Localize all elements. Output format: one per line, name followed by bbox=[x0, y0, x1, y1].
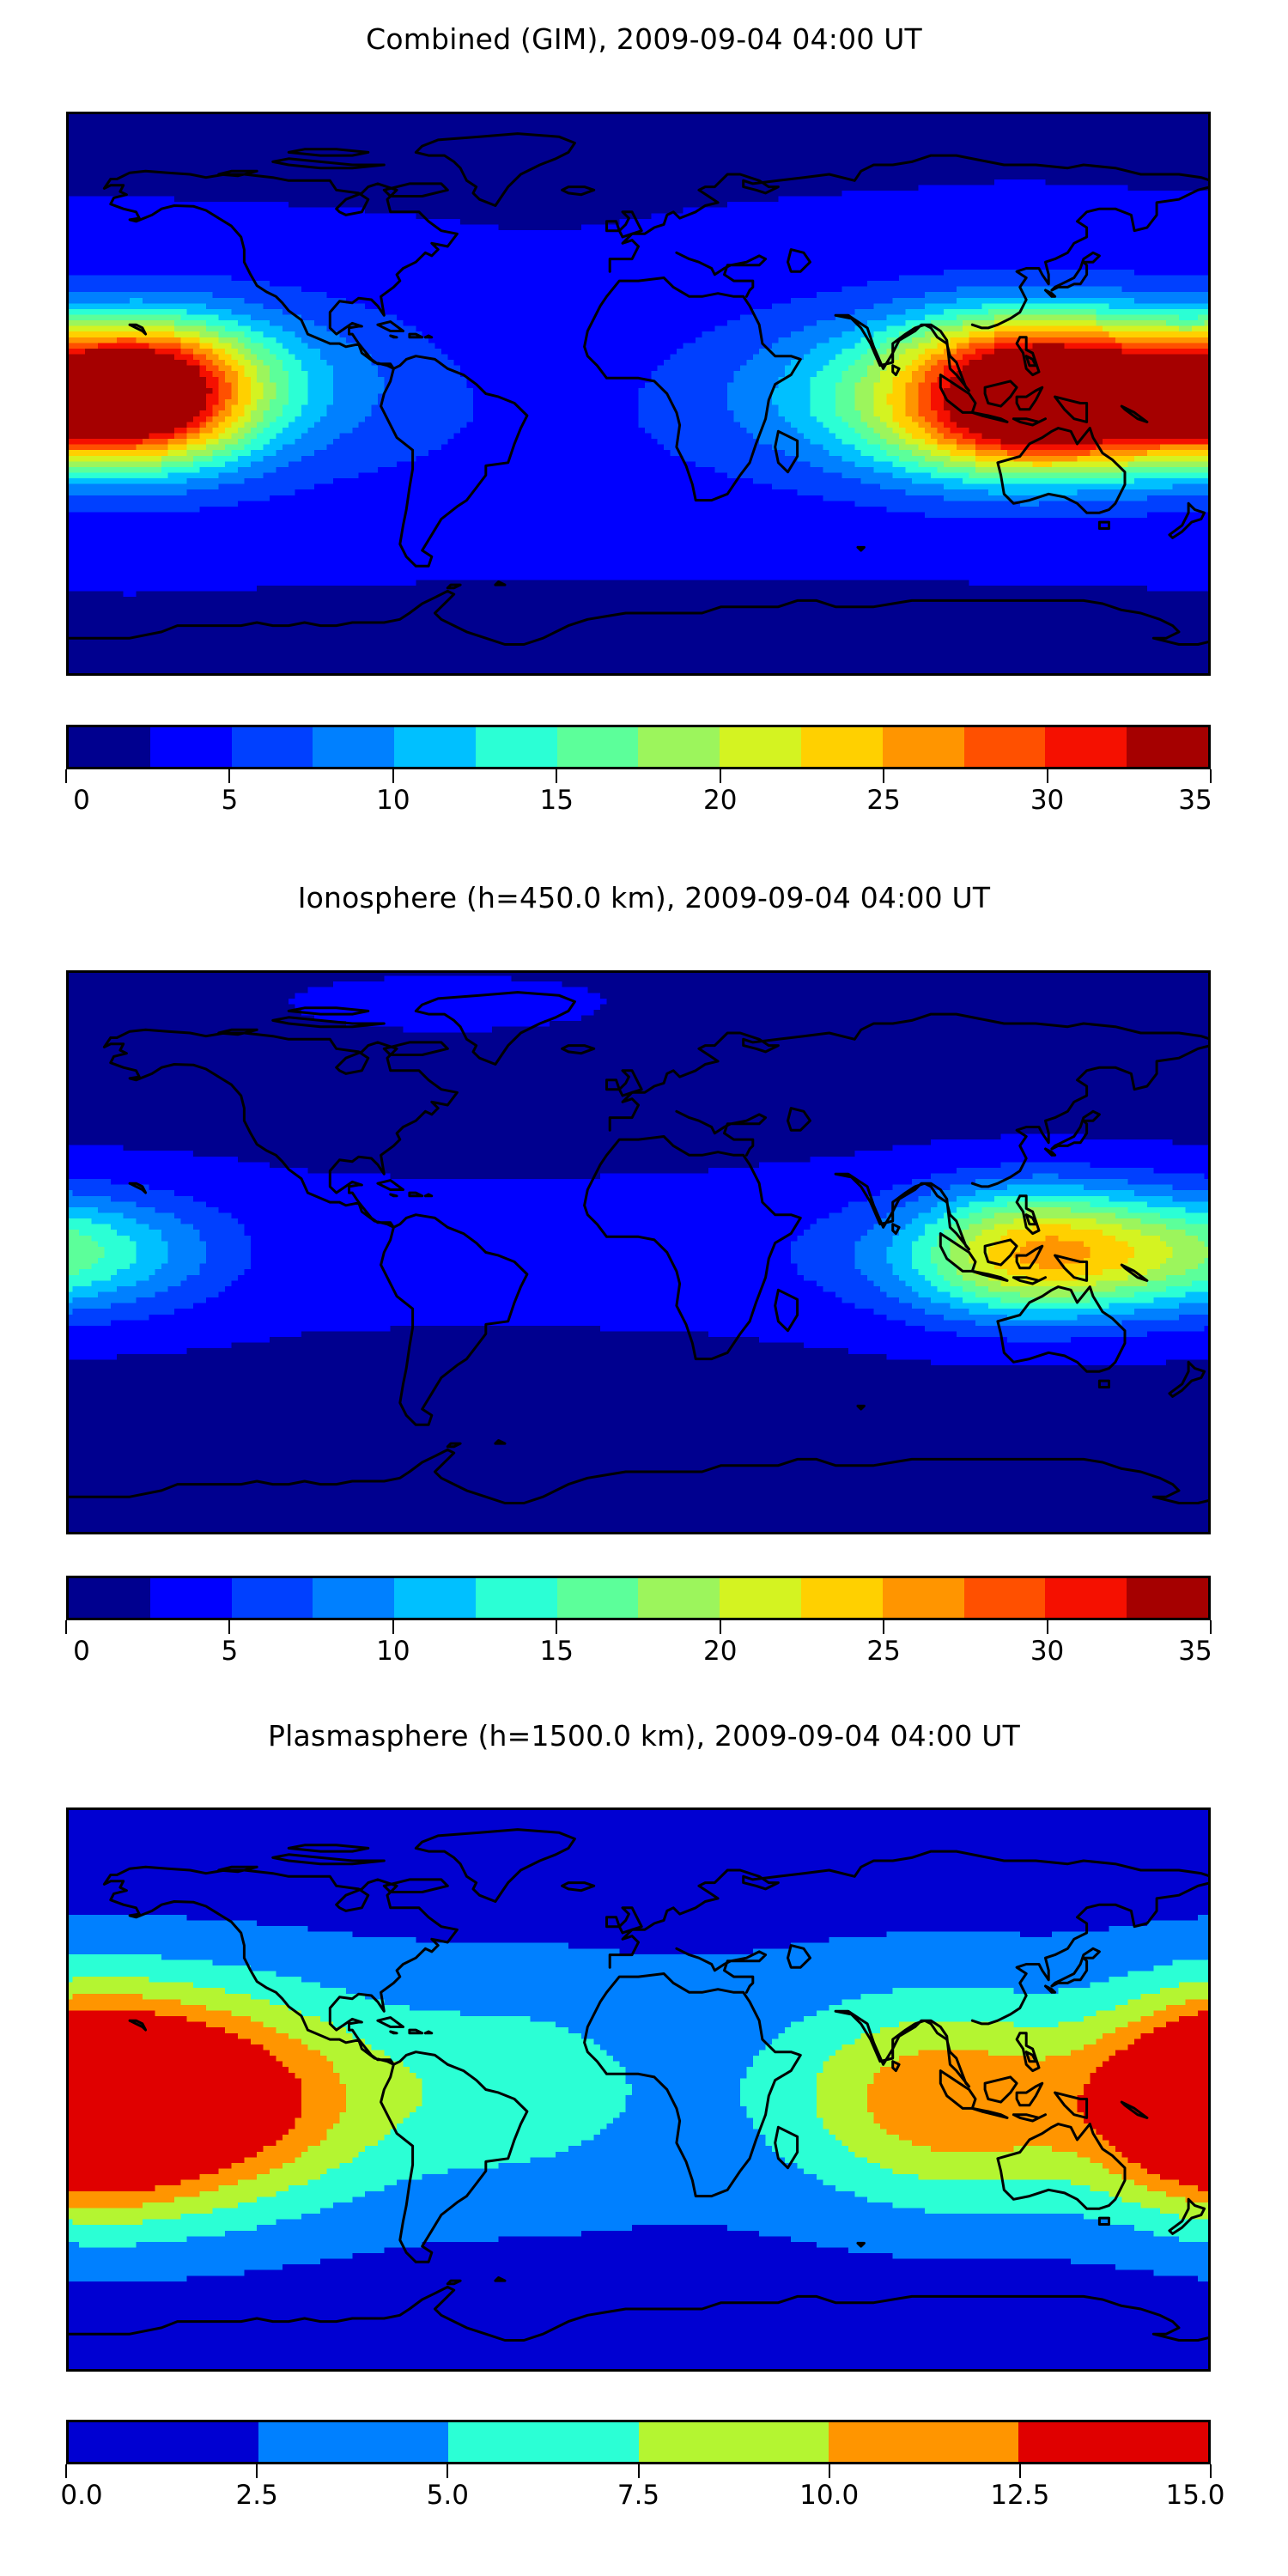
colorbar-band-5 bbox=[1018, 2422, 1208, 2462]
colorbar-band-6 bbox=[557, 1578, 639, 1618]
map-canvas-ionosphere bbox=[66, 970, 1211, 1534]
colorbar-band-3 bbox=[313, 727, 394, 767]
map-canvas-combined bbox=[66, 112, 1211, 676]
colorbar-band-0 bbox=[69, 1578, 150, 1618]
colorbar-band-7 bbox=[638, 1578, 720, 1618]
colorbar-band-2 bbox=[232, 727, 313, 767]
colorbar-swatches-ionosphere bbox=[66, 1576, 1211, 1620]
colorbar-tick bbox=[556, 1620, 557, 1634]
colorbar-tick bbox=[1047, 1620, 1048, 1634]
colorbar-tick bbox=[638, 2464, 640, 2478]
colorbar-band-0 bbox=[69, 727, 150, 767]
colorbar-tick-label: 30 bbox=[1030, 1636, 1064, 1667]
colorbar-tick-label: 15 bbox=[540, 1636, 574, 1667]
colorbar-tick-label: 35 bbox=[1178, 785, 1212, 816]
colorbar-tick bbox=[1210, 769, 1212, 783]
colorbar-tick-label: 20 bbox=[703, 785, 737, 816]
colorbar-band-9 bbox=[801, 727, 883, 767]
colorbar-tick bbox=[228, 769, 230, 783]
colorbar-tick bbox=[1210, 1620, 1212, 1634]
colorbar-tick-label: 20 bbox=[703, 1636, 737, 1667]
colorbar-tick-label: 0.0 bbox=[60, 2480, 102, 2511]
colorbar-band-1 bbox=[258, 2422, 448, 2462]
colorbar-tick bbox=[556, 769, 557, 783]
map-canvas-plasmasphere bbox=[66, 1807, 1211, 2372]
colorbar-band-8 bbox=[720, 1578, 801, 1618]
colorbar-tick-label: 12.5 bbox=[990, 2480, 1049, 2511]
colorbar-band-12 bbox=[1045, 727, 1127, 767]
colorbar-axis-plasmasphere: 0.02.55.07.510.012.515.0 bbox=[66, 2464, 1211, 2528]
colorbar-band-4 bbox=[394, 1578, 476, 1618]
panel-plasmasphere: Plasmasphere (h=1500.0 km), 2009-09-04 0… bbox=[0, 1719, 1288, 1753]
colorbar-combined[interactable]: 05101520253035 bbox=[66, 725, 1211, 833]
colorbar-tick bbox=[883, 1620, 884, 1634]
colorbar-band-13 bbox=[1127, 727, 1208, 767]
colorbar-tick bbox=[228, 1620, 230, 1634]
colorbar-tick bbox=[1019, 2464, 1021, 2478]
colorbar-tick bbox=[65, 2464, 67, 2478]
colorbar-tick-label: 30 bbox=[1030, 785, 1064, 816]
colorbar-axis-ionosphere: 05101520253035 bbox=[66, 1620, 1211, 1684]
colorbar-tick-label: 2.5 bbox=[236, 2480, 278, 2511]
tec-figure: Combined (GIM), 2009-09-04 04:00 UT 0510… bbox=[0, 0, 1288, 2576]
panel-title-ionosphere: Ionosphere (h=450.0 km), 2009-09-04 04:0… bbox=[0, 881, 1288, 915]
map-ionosphere[interactable] bbox=[66, 970, 1211, 1534]
colorbar-tick bbox=[65, 769, 67, 783]
colorbar-tick bbox=[65, 1620, 67, 1634]
colorbar-band-7 bbox=[638, 727, 720, 767]
map-combined[interactable] bbox=[66, 112, 1211, 676]
colorbar-band-13 bbox=[1127, 1578, 1208, 1618]
colorbar-band-5 bbox=[476, 727, 557, 767]
colorbar-band-1 bbox=[150, 1578, 232, 1618]
colorbar-band-9 bbox=[801, 1578, 883, 1618]
colorbar-swatches-combined bbox=[66, 725, 1211, 769]
panel-title-combined: Combined (GIM), 2009-09-04 04:00 UT bbox=[0, 22, 1288, 57]
colorbar-tick bbox=[392, 1620, 394, 1634]
colorbar-band-4 bbox=[394, 727, 476, 767]
colorbar-tick-label: 15 bbox=[540, 785, 574, 816]
colorbar-tick-label: 0 bbox=[73, 1636, 90, 1667]
panel-combined: Combined (GIM), 2009-09-04 04:00 UT bbox=[0, 22, 1288, 57]
colorbar-tick bbox=[883, 769, 884, 783]
colorbar-tick bbox=[720, 769, 721, 783]
colorbar-plasmasphere[interactable]: 0.02.55.07.510.012.515.0 bbox=[66, 2420, 1211, 2528]
colorbar-tick bbox=[256, 2464, 258, 2478]
colorbar-tick bbox=[1210, 2464, 1212, 2478]
colorbar-tick bbox=[829, 2464, 830, 2478]
colorbar-tick-label: 5 bbox=[222, 1636, 239, 1667]
colorbar-band-2 bbox=[448, 2422, 638, 2462]
colorbar-tick-label: 5 bbox=[222, 785, 239, 816]
colorbar-tick-label: 5.0 bbox=[427, 2480, 469, 2511]
colorbar-band-8 bbox=[720, 727, 801, 767]
colorbar-ionosphere[interactable]: 05101520253035 bbox=[66, 1576, 1211, 1684]
colorbar-tick bbox=[1047, 769, 1048, 783]
colorbar-band-11 bbox=[964, 727, 1046, 767]
colorbar-band-11 bbox=[964, 1578, 1046, 1618]
colorbar-tick-label: 35 bbox=[1178, 1636, 1212, 1667]
colorbar-band-2 bbox=[232, 1578, 313, 1618]
panel-ionosphere: Ionosphere (h=450.0 km), 2009-09-04 04:0… bbox=[0, 881, 1288, 915]
colorbar-band-5 bbox=[476, 1578, 557, 1618]
colorbar-tick-label: 25 bbox=[866, 785, 900, 816]
colorbar-band-4 bbox=[829, 2422, 1018, 2462]
colorbar-band-12 bbox=[1045, 1578, 1127, 1618]
colorbar-band-0 bbox=[69, 2422, 258, 2462]
colorbar-tick-label: 0 bbox=[73, 785, 90, 816]
colorbar-tick bbox=[720, 1620, 721, 1634]
colorbar-tick-label: 10 bbox=[376, 1636, 410, 1667]
colorbar-tick-label: 7.5 bbox=[617, 2480, 659, 2511]
map-plasmasphere[interactable] bbox=[66, 1807, 1211, 2372]
colorbar-swatches-plasmasphere bbox=[66, 2420, 1211, 2464]
colorbar-axis-combined: 05101520253035 bbox=[66, 769, 1211, 833]
colorbar-tick-label: 15.0 bbox=[1165, 2480, 1224, 2511]
colorbar-tick bbox=[392, 769, 394, 783]
colorbar-tick bbox=[447, 2464, 448, 2478]
colorbar-band-1 bbox=[150, 727, 232, 767]
panel-title-plasmasphere: Plasmasphere (h=1500.0 km), 2009-09-04 0… bbox=[0, 1719, 1288, 1753]
colorbar-band-3 bbox=[313, 1578, 394, 1618]
colorbar-tick-label: 10 bbox=[376, 785, 410, 816]
colorbar-tick-label: 10.0 bbox=[799, 2480, 859, 2511]
colorbar-band-6 bbox=[557, 727, 639, 767]
colorbar-band-10 bbox=[883, 727, 964, 767]
colorbar-tick-label: 25 bbox=[866, 1636, 900, 1667]
colorbar-band-10 bbox=[883, 1578, 964, 1618]
colorbar-band-3 bbox=[639, 2422, 829, 2462]
